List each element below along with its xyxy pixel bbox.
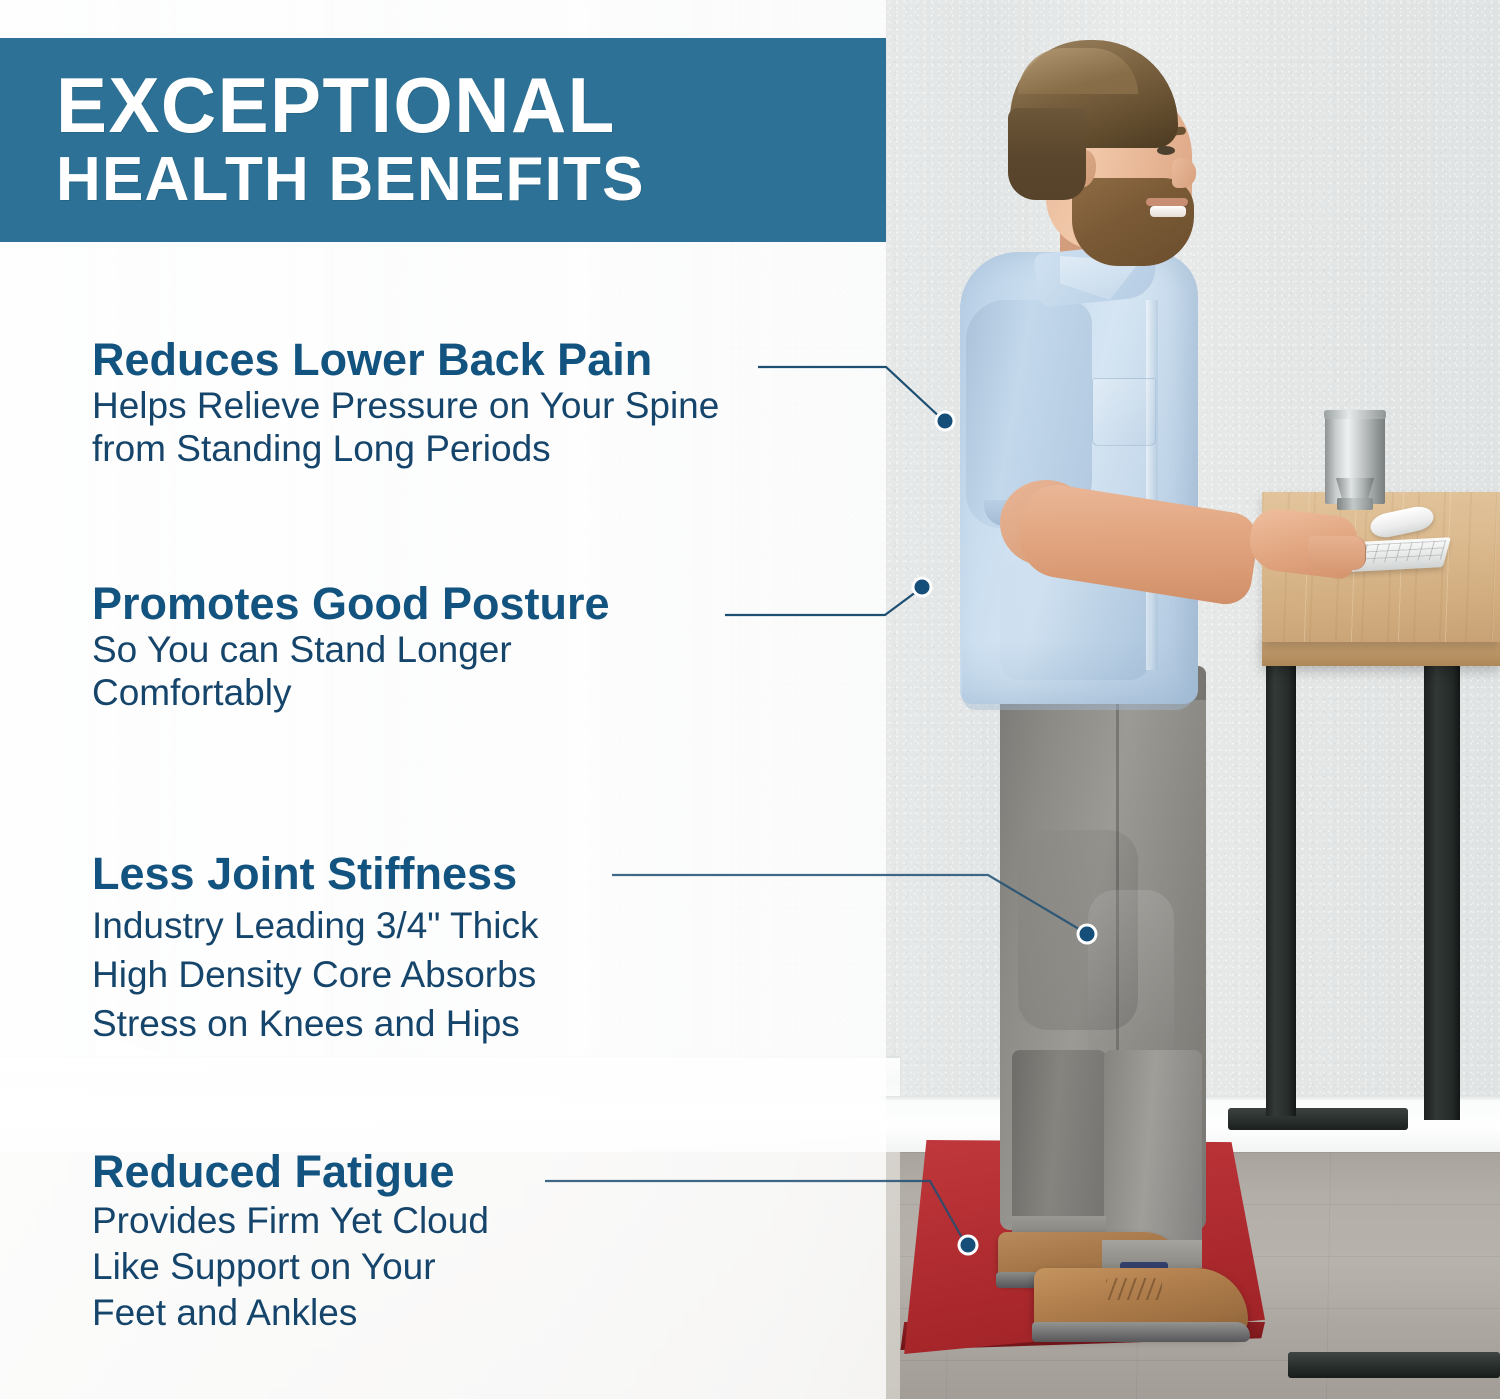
connector-line-knee (612, 875, 1084, 932)
benefit-body: Provides Firm Yet Cloud Like Support on … (92, 1199, 489, 1335)
callout-dot-mat (961, 1238, 976, 1253)
benefit-body-line: Stress on Knees and Hips (92, 1002, 538, 1045)
benefit-block-less-joint-stiffness: Less Joint Stiffness Industry Leading 3/… (92, 850, 538, 1046)
benefit-title: Less Joint Stiffness (92, 850, 538, 898)
benefit-title: Reduced Fatigue (92, 1148, 489, 1196)
callout-dot-posture (915, 580, 930, 595)
benefit-body-line: Helps Relieve Pressure on Your Spine (92, 384, 719, 427)
benefit-body-line: Like Support on Your (92, 1245, 489, 1288)
callout-dot-back (938, 414, 953, 429)
infographic-root: EXCEPTIONAL HEALTH BENEFITS Reduces Lowe… (0, 0, 1500, 1399)
benefit-body-line: Industry Leading 3/4" Thick (92, 904, 538, 947)
callout-dot-knee (1080, 927, 1095, 942)
benefit-body-line: Feet and Ankles (92, 1291, 489, 1334)
benefit-block-promotes-good-posture: Promotes Good Posture So You can Stand L… (92, 580, 610, 714)
benefit-block-reduces-lower-back-pain: Reduces Lower Back Pain Helps Relieve Pr… (92, 336, 719, 470)
benefit-body-line: So You can Stand Longer (92, 628, 610, 671)
benefit-body: So You can Stand Longer Comfortably (92, 628, 610, 715)
connector-line-posture (725, 589, 920, 615)
benefit-title: Reduces Lower Back Pain (92, 336, 719, 384)
benefit-body: Helps Relieve Pressure on Your Spine fro… (92, 384, 719, 471)
connector-line-mat (545, 1181, 965, 1243)
benefit-block-reduced-fatigue: Reduced Fatigue Provides Firm Yet Cloud … (92, 1148, 489, 1335)
benefit-body-line: Comfortably (92, 671, 610, 714)
benefit-body: Industry Leading 3/4" Thick High Density… (92, 904, 538, 1046)
connector-line-back (758, 367, 943, 420)
benefit-body-line: from Standing Long Periods (92, 427, 719, 470)
benefit-body-line: Provides Firm Yet Cloud (92, 1199, 489, 1242)
benefit-body-line: High Density Core Absorbs (92, 953, 538, 996)
benefit-title: Promotes Good Posture (92, 580, 610, 628)
